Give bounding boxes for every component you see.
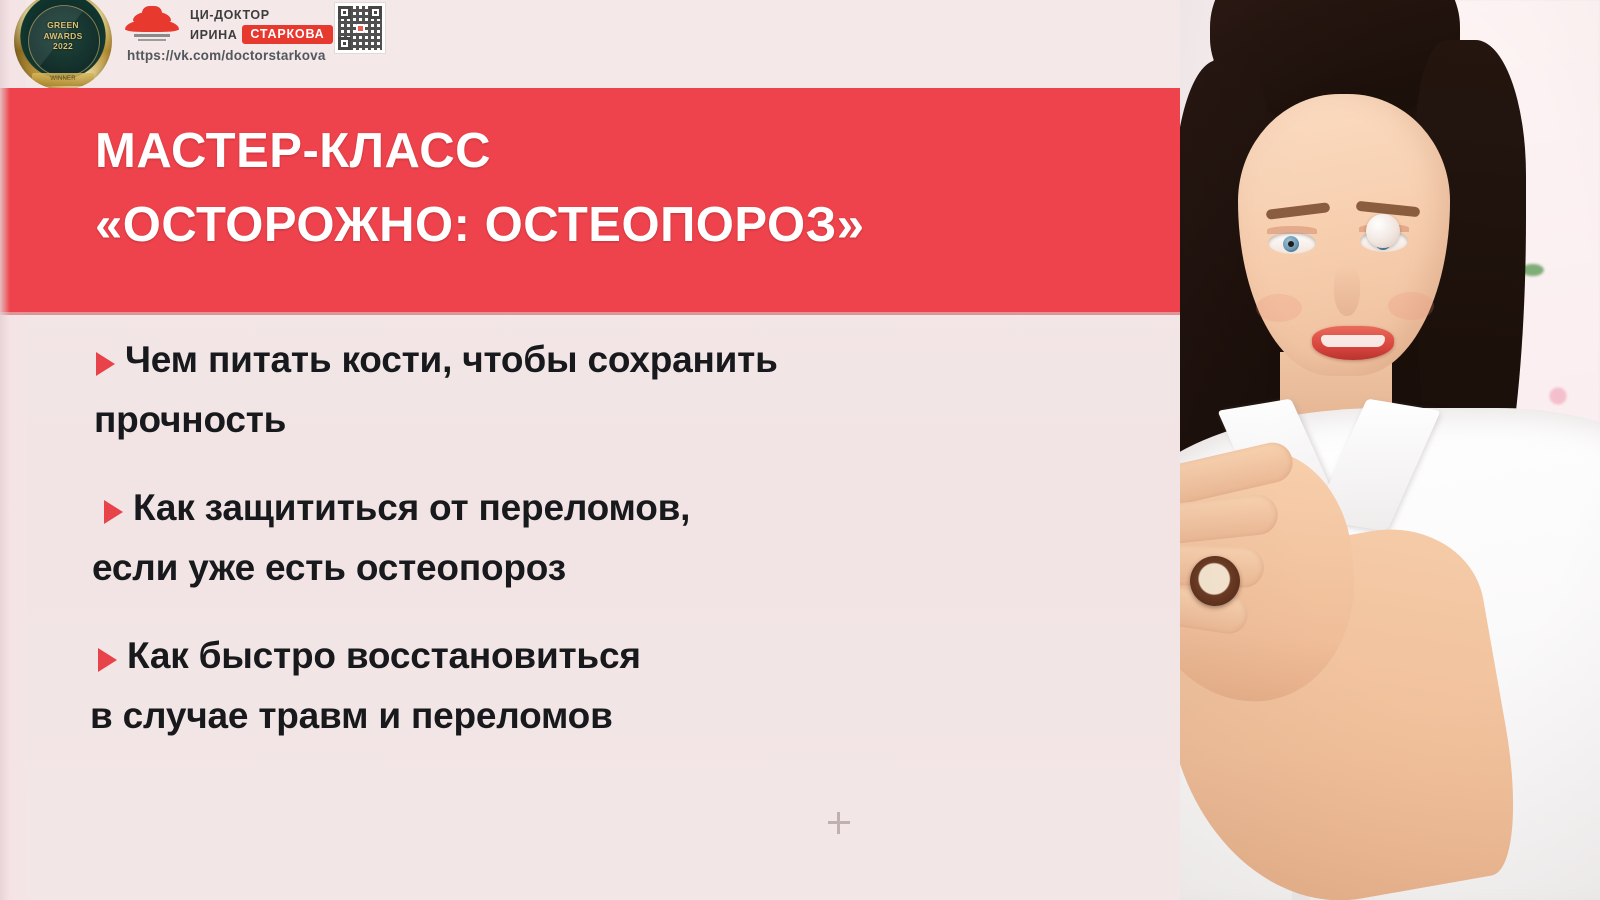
slide-video-frame: GREEN AWARDS 2022 WINNER ЦИ-ДОКТОР ИРИНА… <box>0 0 1600 900</box>
frame-left-seam <box>0 0 10 900</box>
triangle-bullet-icon <box>104 500 123 524</box>
green-awards-badge: GREEN AWARDS 2022 WINNER <box>14 0 112 90</box>
slide-title-line-1: МАСТЕР-КЛАСС <box>95 114 491 188</box>
brand-url[interactable]: https://vk.com/doctorstarkova <box>127 48 326 63</box>
slide-title-line-2: «ОСТОРОЖНО: ОСТЕОПОРОЗ» <box>95 188 865 262</box>
award-badge-ribbon: WINNER <box>32 73 94 86</box>
pagoda-icon <box>124 4 180 46</box>
triangle-bullet-icon <box>98 648 117 672</box>
bullet-3-line-1: Как быстро восстановиться <box>127 626 641 686</box>
bullet-1-line-1: Чем питать кости, чтобы сохранить <box>125 330 778 390</box>
presenter-video-overlay <box>1180 0 1600 900</box>
bullet-item-2: Как защититься от переломов, если уже ес… <box>0 478 990 598</box>
bullet-item-3: Как быстро восстановиться в случае травм… <box>0 626 990 746</box>
brand-line-1: ЦИ-ДОКТОР <box>190 8 333 23</box>
brand-name-block: ЦИ-ДОКТОР ИРИНА СТАРКОВА <box>190 8 333 44</box>
presenter-eye-left <box>1268 232 1316 254</box>
brand-last-name-chip: СТАРКОВА <box>242 25 332 44</box>
triangle-bullet-icon <box>96 352 115 376</box>
presenter-nose <box>1334 264 1360 316</box>
bullet-2-line-2: если уже есть остеопороз <box>0 538 990 598</box>
bullet-list: Чем питать кости, чтобы сохранить прочно… <box>0 330 990 774</box>
qr-code-icon[interactable] <box>334 2 386 54</box>
branding-header: GREEN AWARDS 2022 WINNER ЦИ-ДОКТОР ИРИНА… <box>0 0 1210 88</box>
presenter-mouth <box>1312 326 1394 360</box>
title-banner: МАСТЕР-КЛАСС «ОСТОРОЖНО: ОСТЕОПОРОЗ» <box>0 88 1245 312</box>
bullet-1-line-2: прочность <box>0 390 990 450</box>
brand-first-name: ИРИНА <box>190 28 237 42</box>
acupuncture-model <box>1180 250 1185 900</box>
bullet-item-1: Чем питать кости, чтобы сохранить прочно… <box>0 330 990 450</box>
bullet-3-line-2: в случае травм и переломов <box>0 686 990 746</box>
award-badge-line1: GREEN <box>14 20 112 31</box>
bullet-2-line-1: Как защититься от переломов, <box>133 478 690 538</box>
crosshair-marker <box>826 810 852 836</box>
pearl-earring <box>1366 214 1400 248</box>
model-acupoints <box>1180 250 1185 900</box>
award-badge-line2: AWARDS <box>14 31 112 42</box>
award-badge-text: GREEN AWARDS 2022 <box>14 20 112 52</box>
award-badge-line3: 2022 <box>14 41 112 52</box>
